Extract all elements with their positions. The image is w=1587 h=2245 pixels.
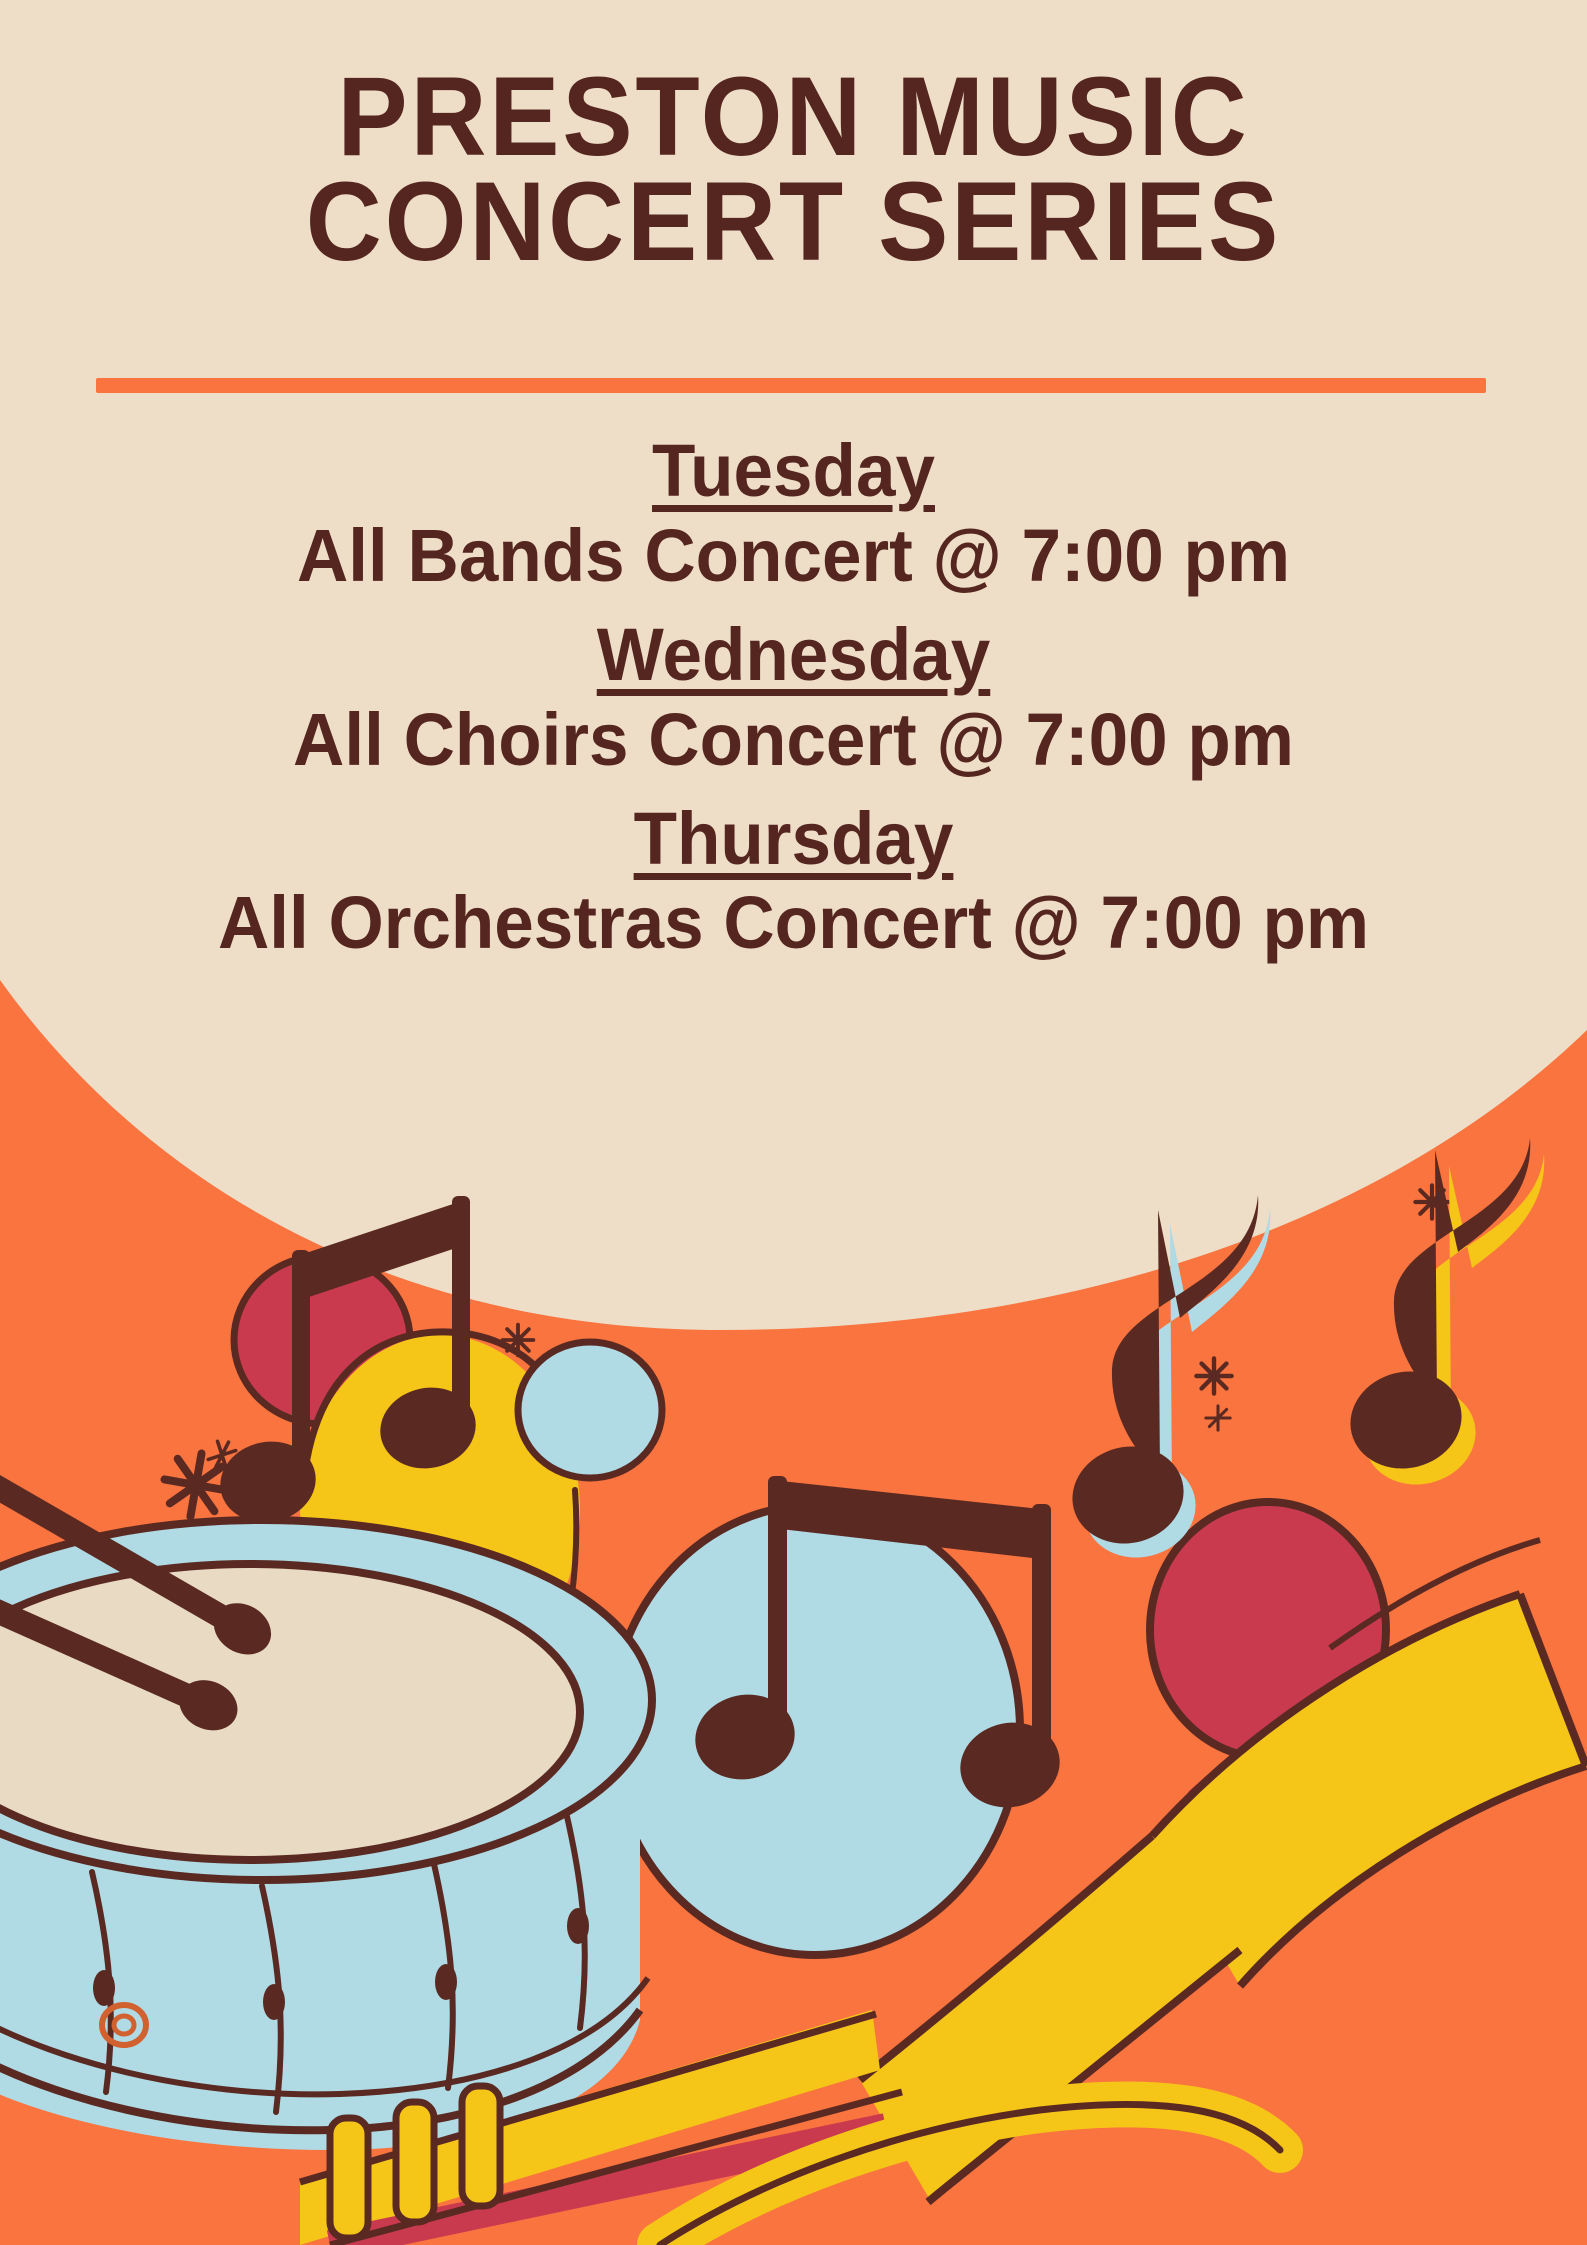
schedule-day-label: Wednesday	[32, 614, 1556, 697]
circle-blue-large	[610, 1505, 1020, 1955]
snare-drum	[0, 1520, 652, 2150]
schedule-list: Tuesday All Bands Concert @ 7:00 pm Wedn…	[0, 430, 1587, 981]
schedule-entry-tuesday: Tuesday All Bands Concert @ 7:00 pm	[0, 430, 1587, 598]
circle-blue-small	[518, 1342, 662, 1478]
schedule-event-label: All Bands Concert @ 7:00 pm	[32, 515, 1556, 598]
schedule-entry-wednesday: Wednesday All Choirs Concert @ 7:00 pm	[0, 614, 1587, 782]
schedule-event-label: All Choirs Concert @ 7:00 pm	[32, 699, 1556, 782]
schedule-day-label: Tuesday	[32, 430, 1556, 513]
title-divider-rule	[96, 378, 1486, 393]
title-line-2: CONCERT SERIES	[132, 169, 1455, 274]
schedule-event-label: All Orchestras Concert @ 7:00 pm	[32, 882, 1556, 965]
poster-header: PRESTON MUSIC CONCERT SERIES	[0, 0, 1587, 275]
title-line-1: PRESTON MUSIC	[132, 64, 1455, 169]
poster-illustration	[0, 0, 1587, 2245]
schedule-day-label: Thursday	[32, 798, 1556, 881]
page-title: PRESTON MUSIC CONCERT SERIES	[48, 0, 1540, 275]
poster-canvas: PRESTON MUSIC CONCERT SERIES Tuesday All…	[0, 0, 1587, 2245]
sparkle	[1194, 1356, 1234, 1396]
schedule-entry-thursday: Thursday All Orchestras Concert @ 7:00 p…	[0, 798, 1587, 966]
